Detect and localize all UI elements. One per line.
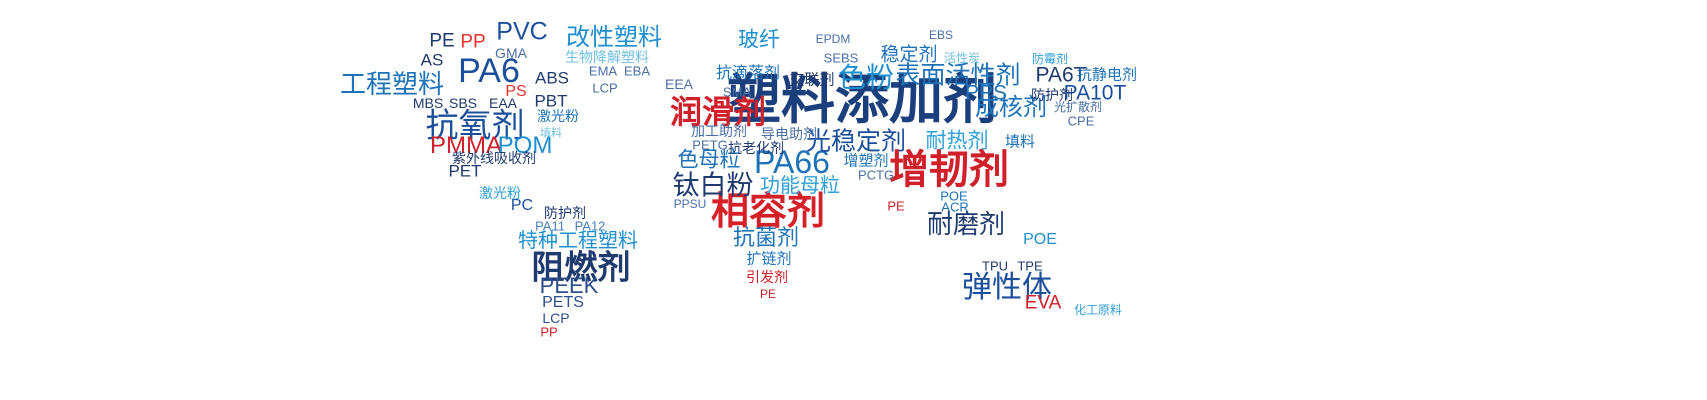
word-cloud-term[interactable]: 化工原料: [1074, 304, 1122, 316]
word-cloud-term[interactable]: EPDM: [816, 33, 851, 45]
word-cloud-term[interactable]: PETS: [542, 295, 584, 311]
word-cloud-term[interactable]: PVC: [496, 20, 547, 45]
word-cloud-term[interactable]: 钛白粉: [673, 173, 754, 200]
word-cloud-term[interactable]: 工程塑料: [340, 71, 444, 97]
word-cloud-term[interactable]: 引发剂: [746, 270, 788, 284]
word-cloud-term[interactable]: PA12: [575, 220, 606, 233]
word-cloud-term[interactable]: LCP: [592, 82, 617, 95]
word-cloud-term[interactable]: 特种工程塑料: [518, 231, 638, 251]
word-cloud-term[interactable]: 生物降解塑料: [565, 50, 649, 64]
word-cloud-term[interactable]: 光扩散剂: [1054, 101, 1102, 113]
word-cloud-term[interactable]: SBS: [449, 96, 477, 110]
word-cloud-term[interactable]: 色粉: [838, 64, 894, 92]
word-cloud-term[interactable]: 防霉剂: [1032, 53, 1068, 65]
word-cloud-term[interactable]: EAA: [489, 96, 517, 110]
word-cloud-term[interactable]: PCTG: [858, 169, 894, 182]
word-cloud-term[interactable]: 扩链剂: [746, 252, 791, 267]
word-cloud-term[interactable]: PE: [429, 32, 454, 51]
word-cloud-term[interactable]: TPU: [982, 260, 1008, 273]
word-cloud-term[interactable]: 抗老化剂: [728, 141, 784, 155]
word-cloud-term[interactable]: 增塑剂: [843, 154, 888, 169]
word-cloud-term[interactable]: 激光粉: [537, 109, 579, 123]
word-cloud-term[interactable]: EEA: [665, 77, 693, 91]
word-cloud-term[interactable]: 玻纤: [738, 30, 780, 51]
word-cloud-term[interactable]: PE: [887, 200, 904, 213]
word-cloud-term[interactable]: 抗菌剂: [733, 227, 799, 249]
word-cloud-term[interactable]: 激光粉: [479, 186, 521, 200]
word-cloud-term[interactable]: 改性塑料: [566, 26, 662, 50]
word-cloud-term[interactable]: AS: [421, 52, 444, 69]
word-cloud-term[interactable]: 稳定剂: [880, 46, 937, 65]
word-cloud-term[interactable]: SEBS: [824, 52, 859, 65]
word-cloud-canvas: 塑料添加剂增韧剂相容剂润滑剂阻燃剂抗氧剂工程塑料PA6PA66色粉表面活性剂光稳…: [0, 0, 1707, 400]
word-cloud-term[interactable]: 紫外线吸收剂: [452, 151, 536, 165]
word-cloud-term[interactable]: 交联剂: [789, 73, 834, 88]
word-cloud-term[interactable]: PPS: [965, 83, 1007, 104]
word-cloud-term[interactable]: 防护剂: [544, 206, 586, 220]
word-cloud-term[interactable]: EVA: [1025, 294, 1062, 313]
word-cloud-term[interactable]: LCP: [542, 311, 569, 325]
word-cloud-term[interactable]: POE: [1023, 232, 1057, 248]
word-cloud-term[interactable]: PETG: [692, 139, 727, 152]
word-cloud-term[interactable]: 填料: [540, 129, 562, 140]
word-cloud-term[interactable]: PE: [760, 288, 776, 300]
word-cloud-term[interactable]: EBA: [624, 65, 650, 78]
word-cloud-term[interactable]: EMA: [589, 65, 617, 78]
word-cloud-term[interactable]: TPE: [1017, 260, 1042, 273]
word-cloud-term[interactable]: GMA: [495, 46, 527, 60]
word-cloud-term[interactable]: PBT: [534, 93, 567, 110]
word-cloud-term[interactable]: 导电助剂: [761, 127, 817, 141]
word-cloud-term[interactable]: ABS: [535, 70, 569, 87]
word-cloud-term[interactable]: 加工助剂: [691, 124, 747, 138]
word-cloud-term[interactable]: SMA: [723, 86, 751, 99]
word-cloud-term[interactable]: 增韧剂: [889, 150, 1009, 190]
word-cloud-term[interactable]: 光稳定剂: [806, 130, 906, 155]
word-cloud-term[interactable]: 活性炭: [944, 52, 980, 64]
word-cloud-term[interactable]: 耐磨剂: [927, 211, 1005, 237]
word-cloud-term[interactable]: EBS: [929, 29, 953, 41]
word-cloud-term[interactable]: PP: [540, 326, 557, 339]
word-cloud-term[interactable]: PA11: [535, 220, 565, 233]
word-cloud-term[interactable]: ACR: [941, 201, 968, 214]
word-cloud-term[interactable]: 抗静电剂: [1077, 68, 1137, 83]
word-cloud-term[interactable]: MBS: [413, 96, 443, 110]
word-cloud-term[interactable]: CPE: [1068, 115, 1095, 128]
word-cloud-term[interactable]: 耐热剂: [926, 131, 989, 152]
word-cloud-term[interactable]: 功能母粒: [760, 176, 840, 196]
word-cloud-term[interactable]: PP: [460, 33, 485, 52]
word-cloud-term[interactable]: 填料: [1005, 135, 1035, 150]
word-cloud-term[interactable]: 抗滴落剂: [716, 66, 780, 82]
word-cloud-term[interactable]: PPSU: [674, 198, 707, 210]
